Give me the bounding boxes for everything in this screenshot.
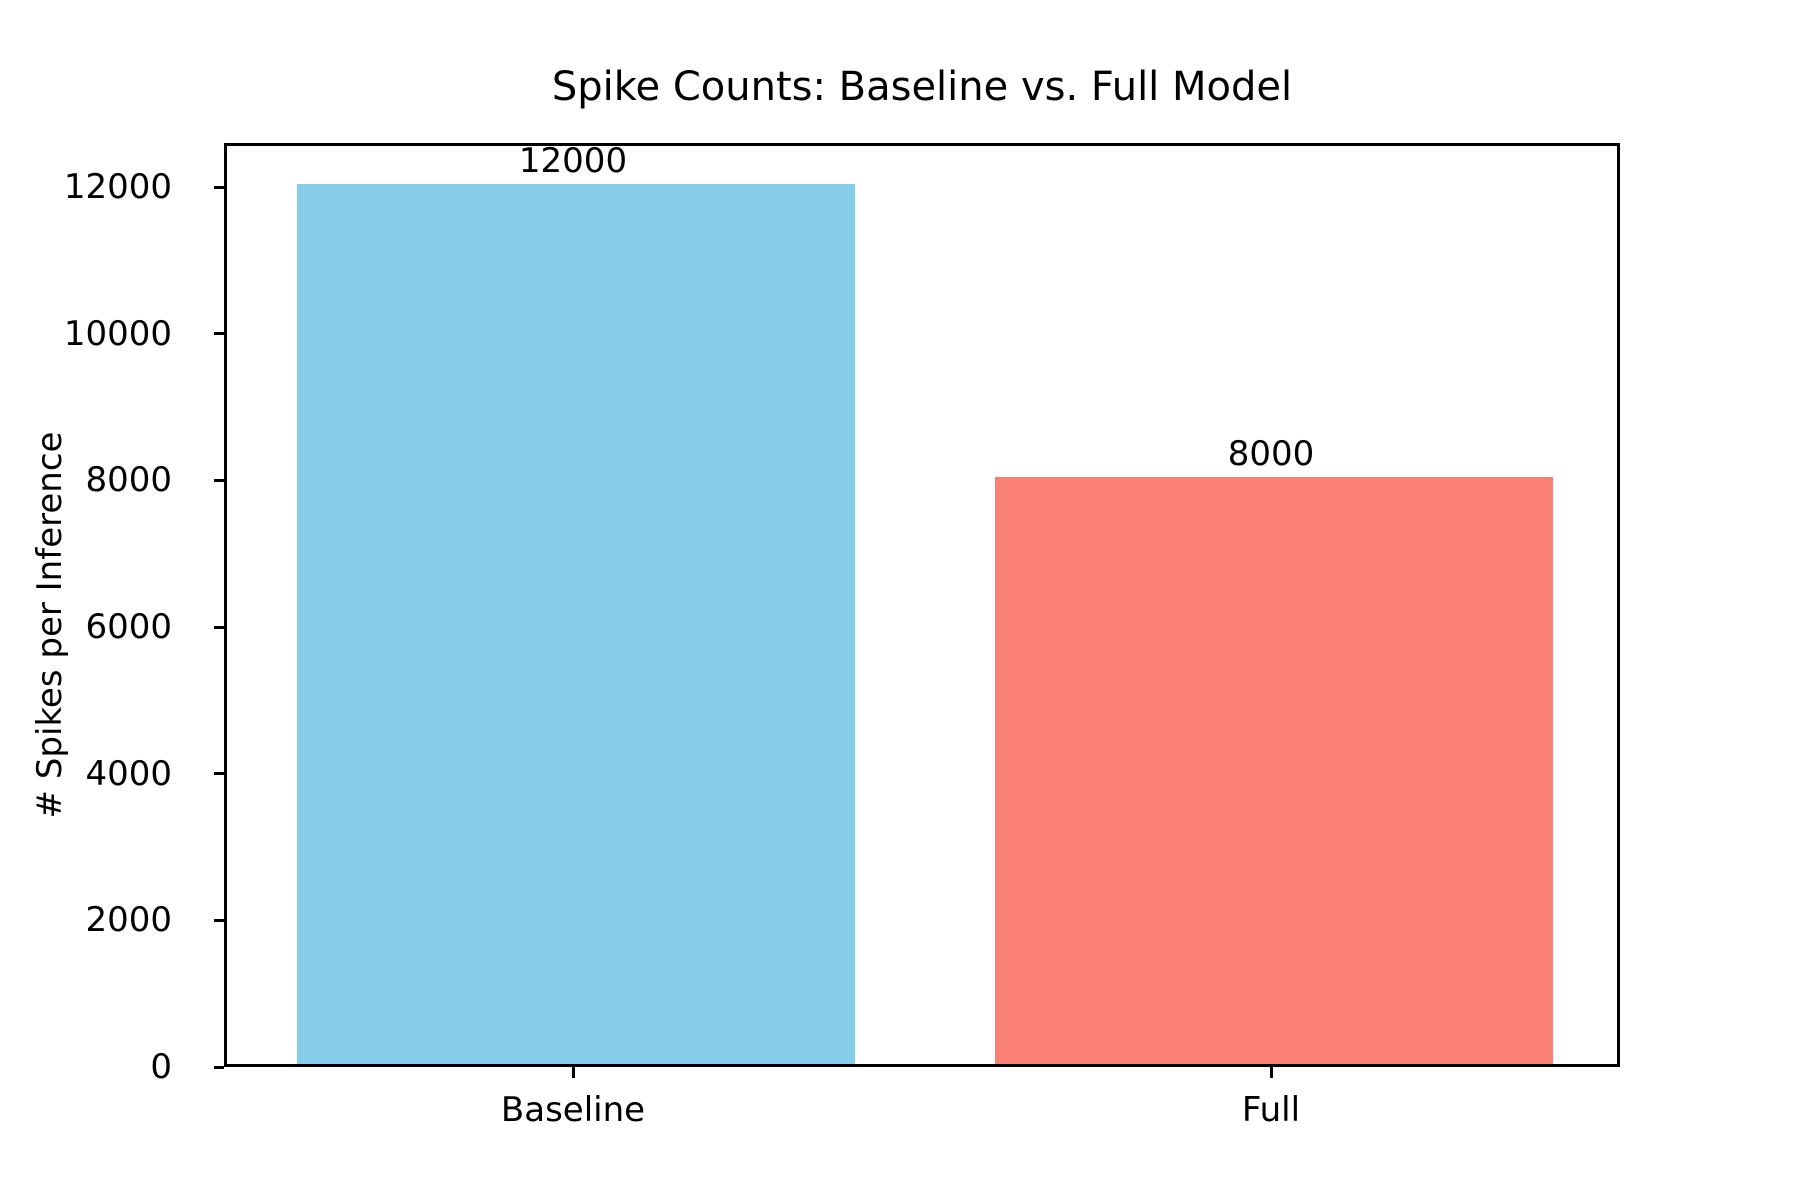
y-axis-tick-mark xyxy=(214,332,224,335)
plot-area xyxy=(224,143,1620,1067)
bar-baseline xyxy=(297,184,855,1064)
x-axis-tick-label-baseline: Baseline xyxy=(501,1090,645,1130)
y-axis-label: # Spikes per Inference xyxy=(30,225,70,1025)
chart-title: Spike Counts: Baseline vs. Full Model xyxy=(224,62,1620,112)
y-axis-tick-mark xyxy=(214,186,224,189)
x-axis-tick-mark xyxy=(1270,1067,1273,1078)
y-axis-tick-mark xyxy=(214,626,224,629)
bars-layer xyxy=(227,146,1617,1064)
y-axis-tick-mark xyxy=(214,479,224,482)
x-axis-tick-mark xyxy=(572,1067,575,1078)
y-axis-tick-mark xyxy=(214,1066,224,1069)
bar-chart-figure: Spike Counts: Baseline vs. Full Model # … xyxy=(0,0,1800,1200)
y-axis-tick-label: 2000 xyxy=(85,903,172,937)
y-axis-tick-mark xyxy=(214,919,224,922)
y-axis-tick-label: 12000 xyxy=(64,170,172,204)
y-axis-tick-mark xyxy=(214,772,224,775)
x-axis-tick-label-full: Full xyxy=(1242,1090,1300,1130)
bar-value-label-full: 8000 xyxy=(1228,436,1315,472)
y-axis-tick-label: 10000 xyxy=(64,317,172,351)
y-axis-tick-label: 0 xyxy=(150,1050,172,1084)
bar-full xyxy=(995,477,1553,1064)
y-axis-tick-label: 8000 xyxy=(85,463,172,497)
bar-value-label-baseline: 12000 xyxy=(519,143,627,179)
y-axis-tick-label: 4000 xyxy=(85,757,172,791)
y-axis-tick-label: 6000 xyxy=(85,610,172,644)
